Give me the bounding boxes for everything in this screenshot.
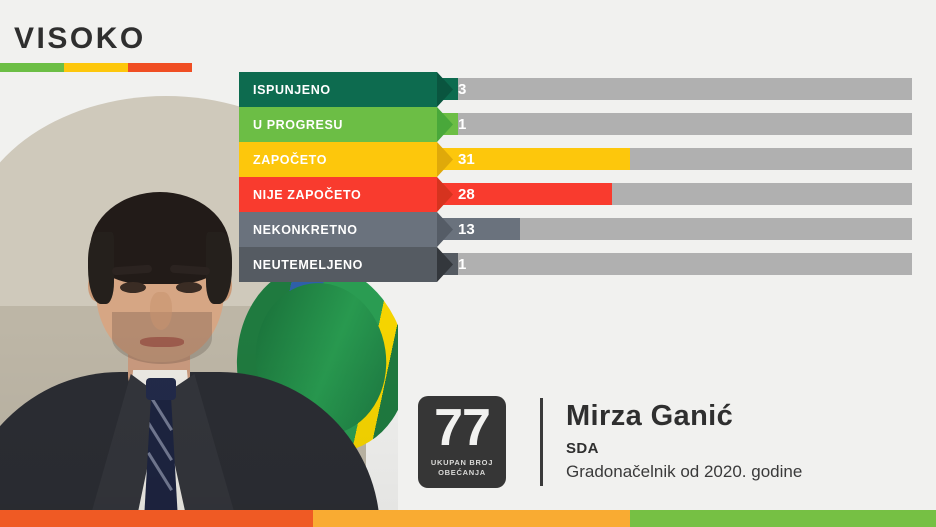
header-accent-bar bbox=[0, 63, 192, 72]
bar-value-label: 28 bbox=[458, 177, 475, 212]
bar-value-label: 1 bbox=[458, 247, 466, 282]
bar-track bbox=[440, 113, 912, 135]
total-promises-badge: 77 UKUPAN BROJ OBEĆANJA bbox=[418, 396, 506, 488]
badge-caption-line-1: UKUPAN BROJ bbox=[431, 458, 493, 468]
chart-row: NIJE ZAPOČETO28 bbox=[239, 177, 919, 212]
promises-bar-chart: ISPUNJENO3U PROGRESU1ZAPOČETO31NIJE ZAPO… bbox=[239, 72, 919, 282]
badge-caption: UKUPAN BROJ OBEĆANJA bbox=[431, 458, 493, 478]
accent-segment-yellow bbox=[64, 63, 128, 72]
bar-track bbox=[440, 78, 912, 100]
badge-number: 77 bbox=[434, 402, 490, 454]
bar-track bbox=[440, 253, 912, 275]
bar-label-text: NEKONKRETNO bbox=[239, 223, 358, 237]
bar-label-arrow-icon bbox=[437, 72, 453, 107]
chart-row: ZAPOČETO31 bbox=[239, 142, 919, 177]
bar-label-block: NEKONKRETNO bbox=[239, 212, 451, 247]
bar-label-arrow-icon bbox=[437, 177, 453, 212]
bar-label-text: NEUTEMELJENO bbox=[239, 258, 363, 272]
bar-label-block: U PROGRESU bbox=[239, 107, 451, 142]
vertical-divider bbox=[540, 398, 543, 486]
bar-label-block: ISPUNJENO bbox=[239, 72, 451, 107]
bottom-strip-segment bbox=[630, 510, 936, 527]
chart-row: NEKONKRETNO13 bbox=[239, 212, 919, 247]
bar-value-label: 1 bbox=[458, 107, 466, 142]
bar-label-arrow-icon bbox=[437, 212, 453, 247]
bar-label-arrow-icon bbox=[437, 142, 453, 177]
infographic-canvas: VISOKO bbox=[0, 0, 936, 527]
bar-label-block: NIJE ZAPOČETO bbox=[239, 177, 451, 212]
bar-label-text: NIJE ZAPOČETO bbox=[239, 188, 361, 202]
bar-label-arrow-icon bbox=[437, 107, 453, 142]
bar-value-label: 31 bbox=[458, 142, 475, 177]
politician-party: SDA bbox=[566, 440, 599, 457]
bar-value-label: 13 bbox=[458, 212, 475, 247]
bar-label-text: ZAPOČETO bbox=[239, 153, 327, 167]
bottom-color-strip bbox=[0, 510, 936, 527]
bottom-strip-segment bbox=[313, 510, 630, 527]
accent-segment-orange bbox=[128, 63, 192, 72]
bar-value-label: 3 bbox=[458, 72, 466, 107]
politician-name: Mirza Ganić bbox=[566, 400, 733, 433]
bar-track bbox=[440, 148, 912, 170]
politician-role: Gradonačelnik od 2020. godine bbox=[566, 462, 802, 482]
badge-caption-line-2: OBEĆANJA bbox=[431, 468, 493, 478]
chart-row: U PROGRESU1 bbox=[239, 107, 919, 142]
bar-track bbox=[440, 218, 912, 240]
accent-segment-green bbox=[0, 63, 64, 72]
bar-track bbox=[440, 183, 912, 205]
bar-label-block: NEUTEMELJENO bbox=[239, 247, 451, 282]
page-title: VISOKO bbox=[14, 22, 146, 56]
bar-label-block: ZAPOČETO bbox=[239, 142, 451, 177]
bottom-strip-segment bbox=[0, 510, 313, 527]
bar-label-text: U PROGRESU bbox=[239, 118, 343, 132]
bar-label-arrow-icon bbox=[437, 247, 453, 282]
chart-row: NEUTEMELJENO1 bbox=[239, 247, 919, 282]
bar-label-text: ISPUNJENO bbox=[239, 83, 331, 97]
chart-row: ISPUNJENO3 bbox=[239, 72, 919, 107]
